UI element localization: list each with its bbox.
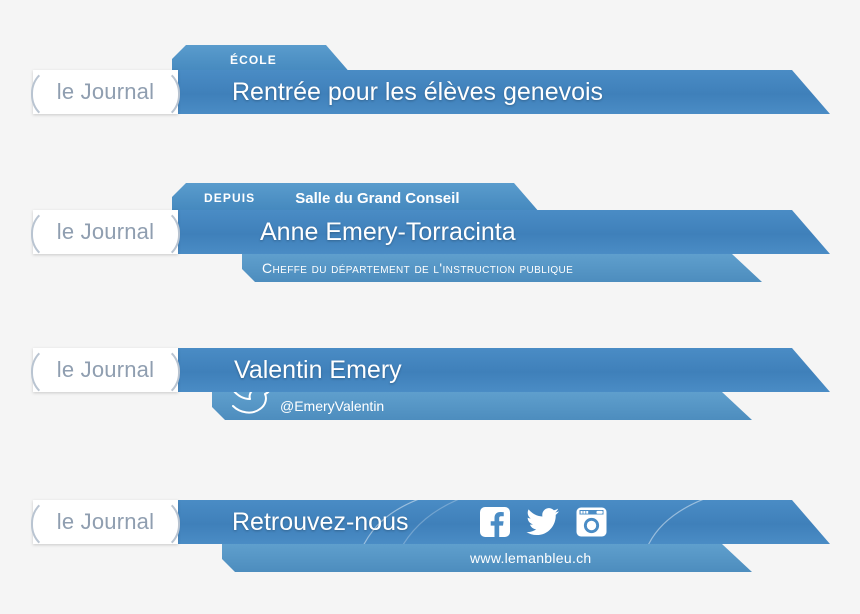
banner-anne-main-bar: Anne Emery-Torracinta (172, 210, 830, 254)
banner-valentin-main-bar: Valentin Emery (172, 348, 830, 392)
social-icons-group (480, 507, 607, 537)
banner-retrouvez-url: www.lemanbleu.ch (470, 550, 592, 566)
logo-text: le Journal (33, 500, 178, 544)
facebook-icon[interactable] (480, 507, 510, 537)
banner-ecole-logo: le Journal (33, 70, 178, 114)
banner-ecole-main-bar: Rentrée pour les élèves genevois (172, 70, 830, 114)
banner-valentin-logo: le Journal (33, 348, 178, 392)
banner-anne-subtitle: Cheffe du département de l'instruction p… (262, 260, 573, 276)
banner-ecole-title: Rentrée pour les élèves genevois (232, 78, 603, 107)
twitter-icon[interactable] (526, 507, 560, 537)
banner-anne-location-label: Salle du Grand Conseil (295, 190, 459, 207)
logo-text: le Journal (33, 348, 178, 392)
banner-anne-subtitle-bar: Cheffe du département de l'instruction p… (242, 254, 762, 282)
banner-retrouvez-main-bar: Retrouvez-nous (172, 500, 830, 544)
banner-valentin-handle: @EmeryValentin (280, 398, 384, 414)
banner-anne-title: Anne Emery-Torracinta (260, 218, 516, 247)
banner-retrouvez-url-bar: www.lemanbleu.ch (222, 544, 752, 572)
lower-thirds-stage: ÉCOLE Rentrée pour les élèves genevois l… (0, 0, 860, 614)
banner-ecole-kicker-label: ÉCOLE (230, 53, 277, 67)
banner-anne-logo: le Journal (33, 210, 178, 254)
banner-valentin-title: Valentin Emery (234, 356, 402, 385)
instagram-icon[interactable] (576, 507, 607, 537)
logo-text: le Journal (33, 210, 178, 254)
banner-retrouvez-logo: le Journal (33, 500, 178, 544)
banner-anne-kicker-label: DEPUIS (204, 191, 255, 205)
banner-retrouvez-title: Retrouvez-nous (232, 508, 408, 537)
banner-valentin-handle-bar: @EmeryValentin (212, 392, 752, 420)
logo-text: le Journal (33, 70, 178, 114)
banner-anne-kicker-tab: DEPUIS Salle du Grand Conseil (172, 183, 540, 213)
